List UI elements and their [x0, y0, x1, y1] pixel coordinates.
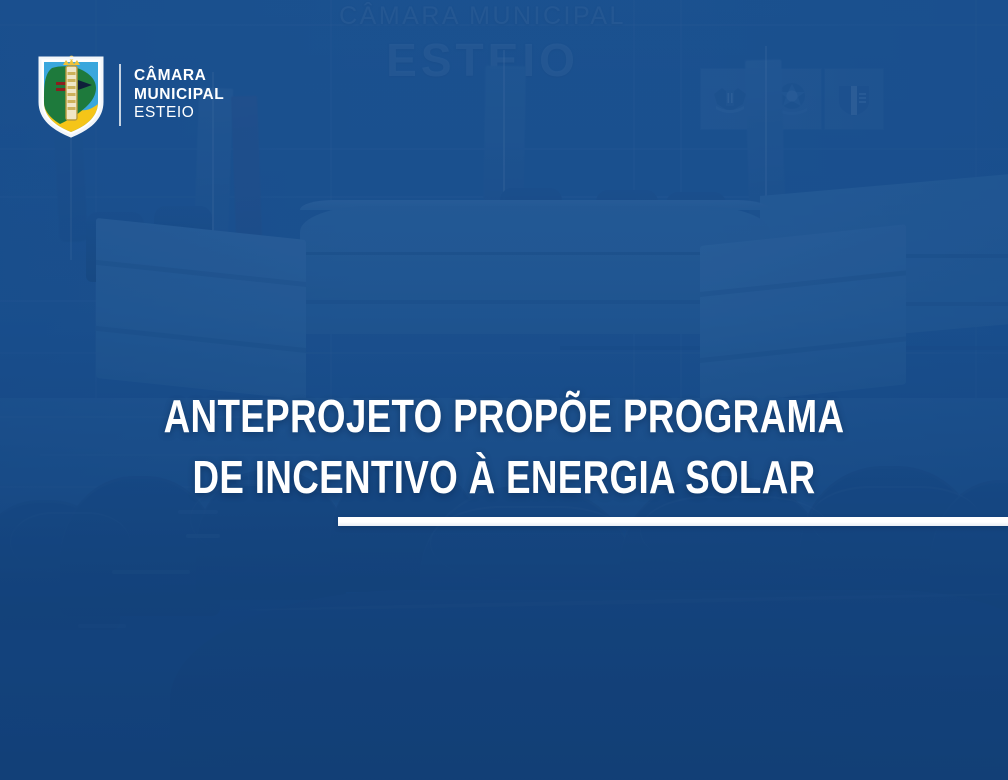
headline-line-2: DE INCENTIVO À ENERGIA SOLAR: [101, 447, 907, 508]
logo-text: CÂMARA MUNICIPAL ESTEIO: [134, 67, 224, 124]
headline-line-1: ANTEPROJETO PROPÕE PROGRAMA: [101, 386, 907, 447]
logo-line-camara: CÂMARA: [134, 67, 224, 86]
news-banner: CÂMARA MUNICIPAL ESTEIO: [0, 0, 1008, 780]
camara-municipal-esteio-coat-of-arms-icon: [34, 52, 108, 138]
page-title: ANTEPROJETO PROPÕE PROGRAMA DE INCENTIVO…: [101, 386, 907, 508]
logo-divider-rule: [119, 64, 121, 126]
logo[interactable]: CÂMARA MUNICIPAL ESTEIO: [34, 52, 224, 138]
headline-divider: [338, 517, 1008, 526]
logo-line-esteio: ESTEIO: [134, 104, 224, 123]
logo-line-municipal: MUNICIPAL: [134, 86, 224, 105]
